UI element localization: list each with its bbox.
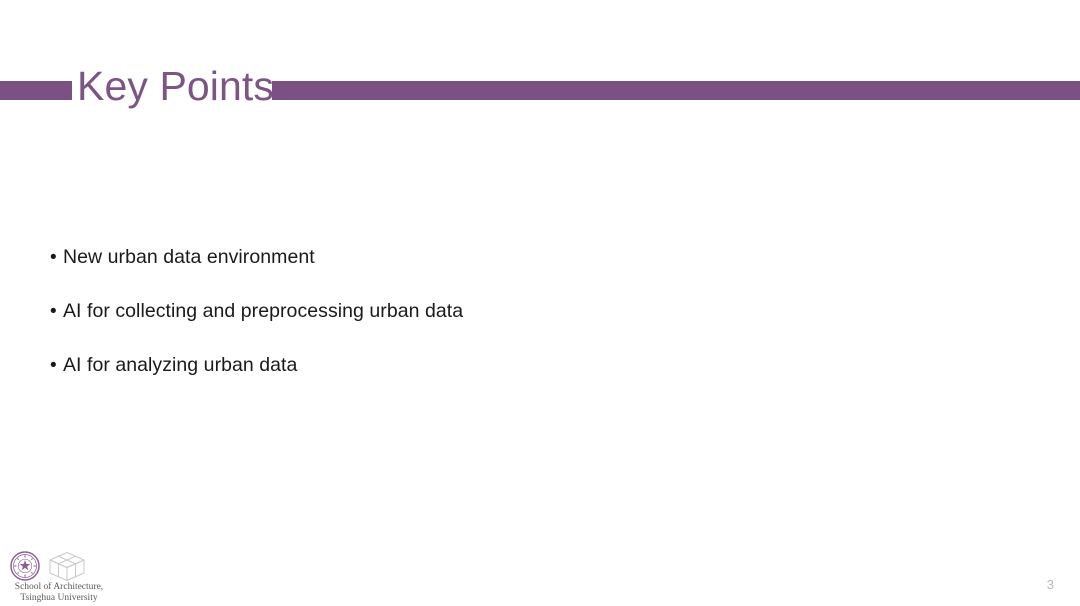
list-item: • AI for analyzing urban data bbox=[50, 348, 1000, 402]
list-item: • AI for collecting and preprocessing ur… bbox=[50, 294, 1000, 348]
page-number: 3 bbox=[1047, 577, 1054, 593]
title-accent-bar-left bbox=[0, 81, 72, 100]
tsinghua-seal-icon bbox=[10, 551, 40, 581]
list-item: • New urban data environment bbox=[50, 240, 1000, 294]
bullet-text: AI for collecting and preprocessing urba… bbox=[63, 294, 463, 328]
bullet-marker-icon: • bbox=[50, 241, 63, 275]
title-accent-bar-right bbox=[272, 81, 1080, 100]
isometric-cube-icon bbox=[48, 551, 86, 582]
logo-marks bbox=[4, 550, 114, 583]
organization-line-2: Tsinghua University bbox=[4, 593, 114, 604]
page-title: Key Points bbox=[77, 58, 274, 114]
organization-line-1: School of Architecture, bbox=[4, 582, 114, 593]
bullet-text: AI for analyzing urban data bbox=[63, 348, 297, 382]
slide-title-row: Key Points bbox=[0, 60, 1080, 116]
bullet-list: • New urban data environment • AI for co… bbox=[50, 240, 1000, 402]
bullet-marker-icon: • bbox=[50, 349, 63, 383]
bullet-text: New urban data environment bbox=[63, 240, 315, 274]
slide-canvas: Key Points • New urban data environment … bbox=[0, 0, 1080, 606]
bullet-marker-icon: • bbox=[50, 295, 63, 329]
footer-logo: School of Architecture, Tsinghua Univers… bbox=[4, 550, 114, 602]
organization-caption: School of Architecture, Tsinghua Univers… bbox=[4, 582, 114, 603]
